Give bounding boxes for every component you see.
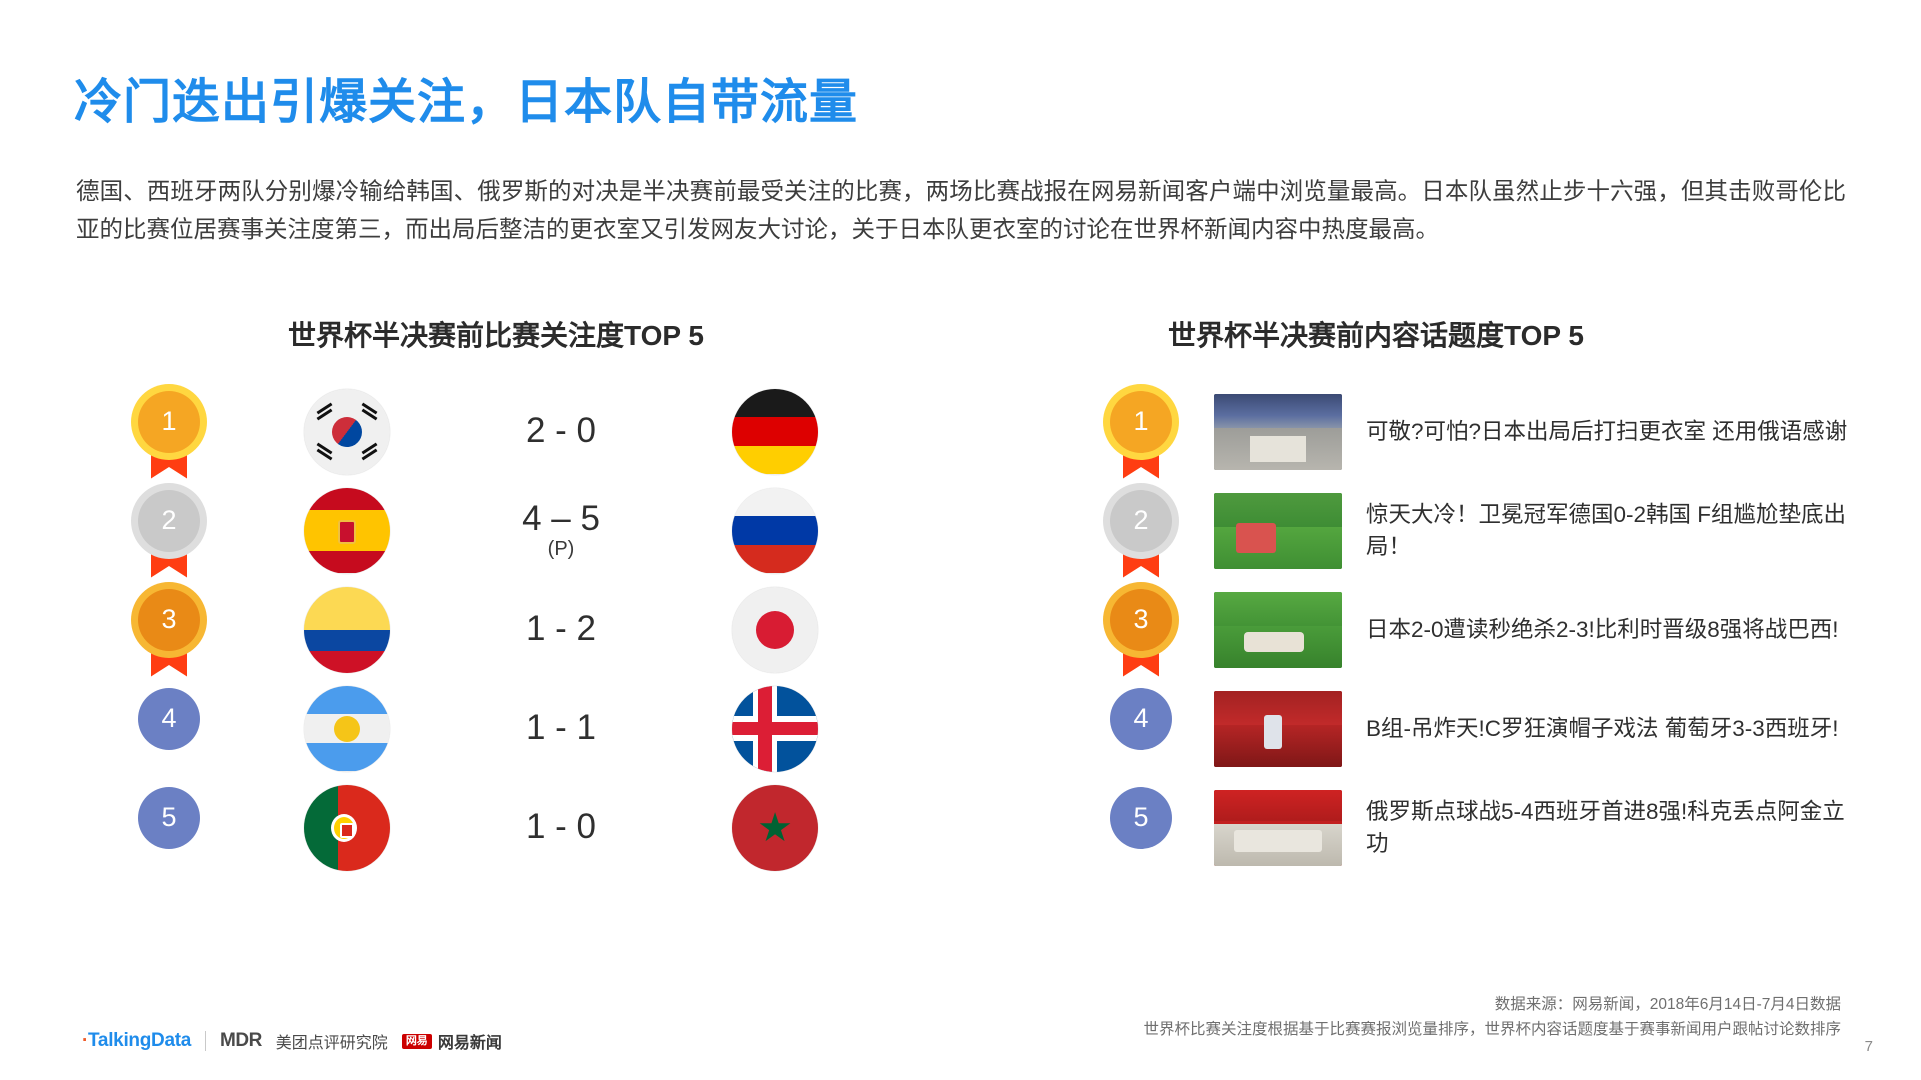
celebration-photo (1214, 790, 1342, 866)
score-value: 2 - 0 (526, 411, 596, 450)
meituan-research-label: 美团点评研究院 (276, 1029, 388, 1053)
player-tackle-photo (1214, 592, 1342, 668)
south-korea-flag-icon (304, 389, 390, 475)
intro-paragraph: 德国、西班牙两队分别爆冷输给韩国、俄罗斯的对决是半决赛前最受关注的比赛，两场比赛… (76, 172, 1846, 248)
spain-flag-icon (304, 488, 390, 574)
germany-flag-icon (732, 389, 818, 475)
netease-label: 网易新闻 (438, 1029, 502, 1053)
list-item[interactable]: 3 日本2-0遭读秒绝杀2-3!比利时晋级8强将战巴西! (1110, 580, 1850, 679)
list-item[interactable]: 2 惊天大冷！卫冕冠军德国0-2韩国 F组尴尬垫底出局！ (1110, 481, 1850, 580)
japan-flag-icon (732, 587, 818, 673)
list-item[interactable]: 1 可敬?可怕?日本出局后打扫更衣室 还用俄语感谢 (1110, 382, 1850, 481)
colombia-flag-icon (304, 587, 390, 673)
red-crowd-photo (1214, 691, 1342, 767)
score-value: 1 - 1 (526, 708, 596, 747)
match-ranking-list: 1 2 - 0 2 (138, 382, 878, 877)
mdr-logo: MDR (220, 1030, 262, 1052)
iceland-flag-icon (732, 686, 818, 772)
news-headline: 可敬?可怕?日本出局后打扫更衣室 还用俄语感谢 (1366, 416, 1850, 448)
netease-chip: 网易 (402, 1034, 432, 1049)
list-item[interactable]: 5 俄罗斯点球战5-4西班牙首进8强!科克丢点阿金立功 (1110, 778, 1850, 877)
match-row: 1 2 - 0 (138, 382, 878, 481)
news-ranking-list: 1 可敬?可怕?日本出局后打扫更衣室 还用俄语感谢 2 惊天大冷！卫冕冠军德国0… (1110, 382, 1850, 877)
match-score: 1 - 2 (390, 611, 732, 648)
slide-root: 冷门迭出引爆关注，日本队自带流量 德国、西班牙两队分别爆冷输给韩国、俄罗斯的对决… (0, 0, 1921, 1080)
portugal-flag-icon (304, 785, 390, 871)
rank-number: 1 (138, 391, 200, 453)
netease-news-logo: 网易 网易新闻 (402, 1029, 502, 1053)
match-score: 2 - 0 (390, 413, 732, 450)
match-score: 4 – 5 (P) (390, 501, 732, 561)
rank-number: 5 (1110, 787, 1172, 849)
rank-number: 3 (138, 589, 200, 651)
page-number: 7 (1865, 1038, 1873, 1055)
goal-save-photo (1214, 493, 1342, 569)
rank-number: 2 (1110, 490, 1172, 552)
list-item[interactable]: 4 B组-吊炸天!C罗狂演帽子戏法 葡萄牙3-3西班牙! (1110, 679, 1850, 778)
brand-bar: ·TalkingData MDR 美团点评研究院 网易 网易新闻 (82, 1029, 502, 1053)
score-value: 1 - 2 (526, 609, 596, 648)
source-line-2: 世界杯比赛关注度根据基于比赛赛报浏览量排序，世界杯内容话题度基于赛事新闻用户跟帖… (1143, 1017, 1841, 1042)
rank-badge-3: 3 (1110, 589, 1172, 671)
right-panel-heading: 世界杯半决赛前内容话题度TOP 5 (1168, 314, 1584, 354)
rank-badge-4: 4 (138, 688, 200, 770)
rank-badge-1: 1 (138, 391, 200, 473)
match-score: 1 - 0 (390, 809, 732, 846)
rank-number: 4 (138, 688, 200, 750)
match-row: 2 4 – 5 (P) (138, 481, 878, 580)
rank-badge-2: 2 (1110, 490, 1172, 572)
rank-badge-1: 1 (1110, 391, 1172, 473)
match-row: 5 1 - 0 ★ (138, 778, 878, 877)
left-panel-heading: 世界杯半决赛前比赛关注度TOP 5 (288, 314, 704, 354)
match-row: 3 1 - 2 (138, 580, 878, 679)
morocco-flag-icon: ★ (732, 785, 818, 871)
news-headline: B组-吊炸天!C罗狂演帽子戏法 葡萄牙3-3西班牙! (1366, 713, 1850, 745)
match-score: 1 - 1 (390, 710, 732, 747)
argentina-flag-icon (304, 686, 390, 772)
rank-number: 2 (138, 490, 200, 552)
penalty-note: (P) (390, 539, 732, 560)
match-row: 4 1 - 1 (138, 679, 878, 778)
rank-number: 1 (1110, 391, 1172, 453)
source-note: 数据来源：网易新闻，2018年6月14日-7月4日数据 世界杯比赛关注度根据基于… (1143, 992, 1841, 1042)
score-value: 4 – 5 (522, 499, 600, 538)
rank-badge-5: 5 (1110, 787, 1172, 869)
news-headline: 俄罗斯点球战5-4西班牙首进8强!科克丢点阿金立功 (1366, 796, 1850, 860)
rank-badge-4: 4 (1110, 688, 1172, 770)
rank-number: 3 (1110, 589, 1172, 651)
score-value: 1 - 0 (526, 807, 596, 846)
rank-number: 4 (1110, 688, 1172, 750)
divider (205, 1031, 206, 1051)
russia-flag-icon (732, 488, 818, 574)
source-line-1: 数据来源：网易新闻，2018年6月14日-7月4日数据 (1143, 992, 1841, 1017)
talkingdata-logo: ·TalkingData (82, 1030, 191, 1052)
rank-badge-3: 3 (138, 589, 200, 671)
locker-room-photo (1214, 394, 1342, 470)
rank-badge-2: 2 (138, 490, 200, 572)
rank-number: 5 (138, 787, 200, 849)
talkingdata-label: TalkingData (88, 1030, 191, 1051)
rank-badge-5: 5 (138, 787, 200, 869)
news-headline: 惊天大冷！卫冕冠军德国0-2韩国 F组尴尬垫底出局！ (1366, 499, 1850, 563)
news-headline: 日本2-0遭读秒绝杀2-3!比利时晋级8强将战巴西! (1366, 614, 1850, 646)
page-title: 冷门迭出引爆关注，日本队自带流量 (74, 62, 858, 132)
